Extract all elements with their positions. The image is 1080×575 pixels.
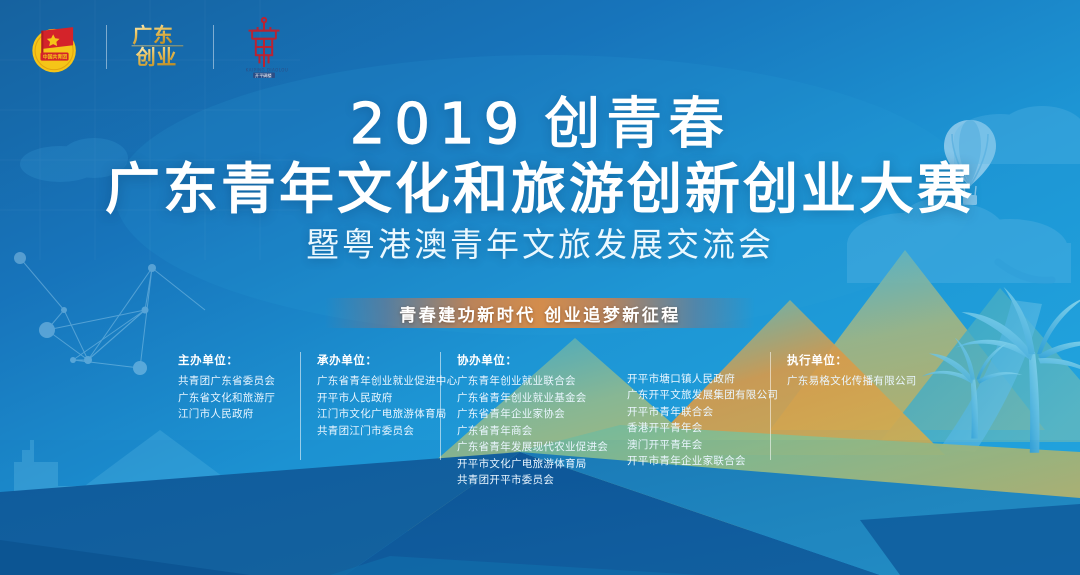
logo-bar: 中国共青团 广东 创业	[26, 16, 292, 78]
credit-item: 共青团广东省委员会	[178, 373, 300, 390]
credit-item: 共青团开平市委员会	[457, 472, 610, 489]
logo-slot-cyl: 中国共青团	[26, 18, 84, 76]
credit-column-host: 主办单位： 共青团广东省委员会 广东省文化和旅游厅 江门市人民政府	[178, 352, 300, 423]
logo-slot-kaiping: KAIPING DIAOLOU 开平碉楼	[236, 16, 292, 78]
credit-item: 广东省青年发展现代农业促进会	[457, 439, 610, 456]
kaiping-diaolou-logo-icon: KAIPING DIAOLOU 开平碉楼	[236, 16, 292, 78]
credit-item: 香港开平青年会	[627, 420, 770, 437]
credit-column-organizer: 承办单位： 广东省青年创业就业促进中心 开平市人民政府 江门市文化广电旅游体育局…	[300, 352, 440, 439]
palm-tree	[955, 287, 1080, 453]
logo-slot-gdcy: 广东 创业	[129, 18, 191, 76]
svg-text:中国共青团: 中国共青团	[43, 53, 67, 60]
slogan-text: 青春建功新时代 创业追梦新征程	[399, 301, 680, 326]
credit-item: 开平市人民政府	[317, 390, 440, 407]
credit-column-coorganizer-a: 协办单位： 广东青年创业就业联合会 广东省青年创业就业基金会 广东省青年企业家协…	[440, 352, 610, 489]
credit-item: 江门市人民政府	[178, 406, 300, 423]
credit-heading: 承办单位：	[317, 352, 440, 368]
city-skyline	[14, 440, 76, 554]
title-block: 2019创青春 广东青年文化和旅游创新创业大赛 暨粤港澳青年文旅发展交流会	[0, 96, 1080, 264]
guangdong-chuangye-logo-icon: 广东 创业	[129, 18, 191, 76]
logo-divider-2	[213, 25, 214, 69]
credit-item: 澳门开平青年会	[627, 437, 770, 454]
credit-item: 广东易格文化传播有限公司	[787, 373, 920, 390]
palm-tree	[922, 338, 1023, 439]
credit-item: 广东省青年商会	[457, 423, 610, 440]
credit-item: 江门市文化广电旅游体育局	[317, 406, 440, 423]
credit-heading: 执行单位：	[787, 352, 920, 368]
svg-text:创业: 创业	[135, 46, 177, 69]
credit-item: 开平市塘口镇人民政府	[627, 371, 770, 388]
svg-text:开平碉楼: 开平碉楼	[255, 72, 272, 78]
credit-heading: 主办单位：	[178, 352, 300, 368]
credit-item: 广东省青年企业家协会	[457, 406, 610, 423]
logo-divider-1	[106, 25, 107, 69]
credit-item: 广东青年创业就业联合会	[457, 373, 610, 390]
organizer-credits: 主办单位： 共青团广东省委员会 广东省文化和旅游厅 江门市人民政府 承办单位： …	[178, 352, 920, 489]
credit-heading-spacer	[627, 352, 770, 371]
network-dots	[14, 252, 205, 375]
title-line-2: 广东青年文化和旅游创新创业大赛	[0, 159, 1080, 221]
credit-heading: 协办单位：	[457, 352, 610, 368]
svg-text:广东: 广东	[132, 24, 173, 47]
credit-item: 广东省青年创业就业基金会	[457, 390, 610, 407]
title-line-3: 暨粤港澳青年文旅发展交流会	[0, 226, 1080, 264]
credit-column-coorganizer-b: 开平市塘口镇人民政府 广东开平文旅发展集团有限公司 开平市青年联合会 香港开平青…	[610, 352, 770, 470]
credit-item: 开平市青年联合会	[627, 404, 770, 421]
svg-text:KAIPING DIAOLOU: KAIPING DIAOLOU	[246, 68, 289, 73]
slogan-ribbon: 青春建功新时代 创业追梦新征程	[325, 298, 755, 328]
communist-youth-league-emblem-icon: 中国共青团	[26, 18, 84, 76]
credit-item: 开平市文化广电旅游体育局	[457, 456, 610, 473]
credit-item: 共青团江门市委员会	[317, 423, 440, 440]
title-line-1: 2019创青春	[0, 96, 1080, 155]
mountain	[940, 300, 1042, 452]
credit-item: 开平市青年企业家联合会	[627, 453, 770, 470]
title-year: 2019	[350, 92, 529, 157]
title-main: 创青春	[544, 92, 730, 157]
credit-column-executor: 执行单位： 广东易格文化传播有限公司	[770, 352, 920, 390]
credit-item: 广东省青年创业就业促进中心	[317, 373, 440, 390]
credit-item: 广东开平文旅发展集团有限公司	[627, 387, 770, 404]
event-poster: 中国共青团 广东 创业	[0, 0, 1080, 575]
credit-item: 广东省文化和旅游厅	[178, 390, 300, 407]
